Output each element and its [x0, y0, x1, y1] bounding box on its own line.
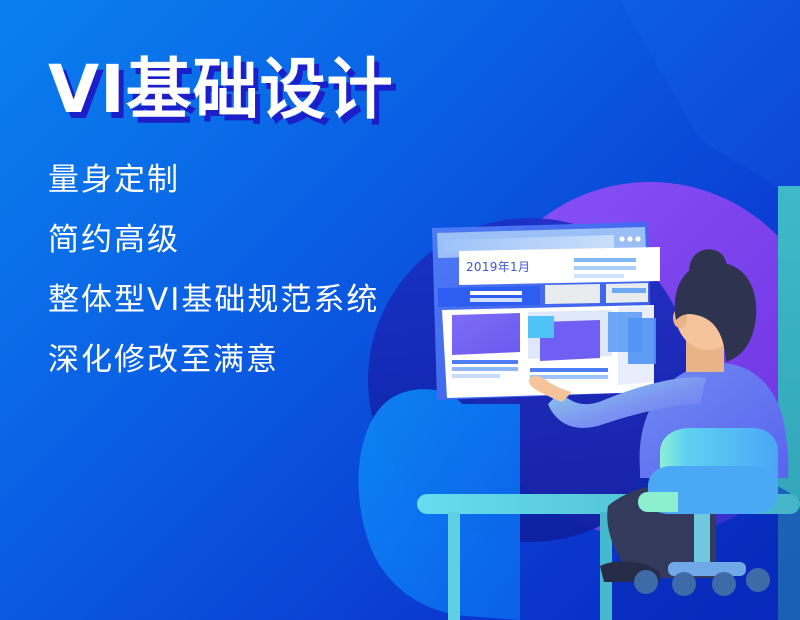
promo-banner: VI基础设计 量身定制 简约高级 整体型VI基础规范系统 深化修改至满意	[0, 0, 800, 620]
feature-item-1: 量身定制	[48, 165, 478, 196]
feature-item-4: 深化修改至满意	[48, 345, 478, 376]
feature-item-2: 简约高级	[48, 225, 478, 256]
page-title: VI基础设计	[48, 56, 478, 123]
feature-list: 量身定制 简约高级 整体型VI基础规范系统 深化修改至满意	[48, 165, 478, 376]
light-sweep-shape	[620, 0, 800, 200]
text-content: VI基础设计 量身定制 简约高级 整体型VI基础规范系统 深化修改至满意	[48, 56, 478, 376]
feature-item-3: 整体型VI基础规范系统	[48, 285, 478, 316]
